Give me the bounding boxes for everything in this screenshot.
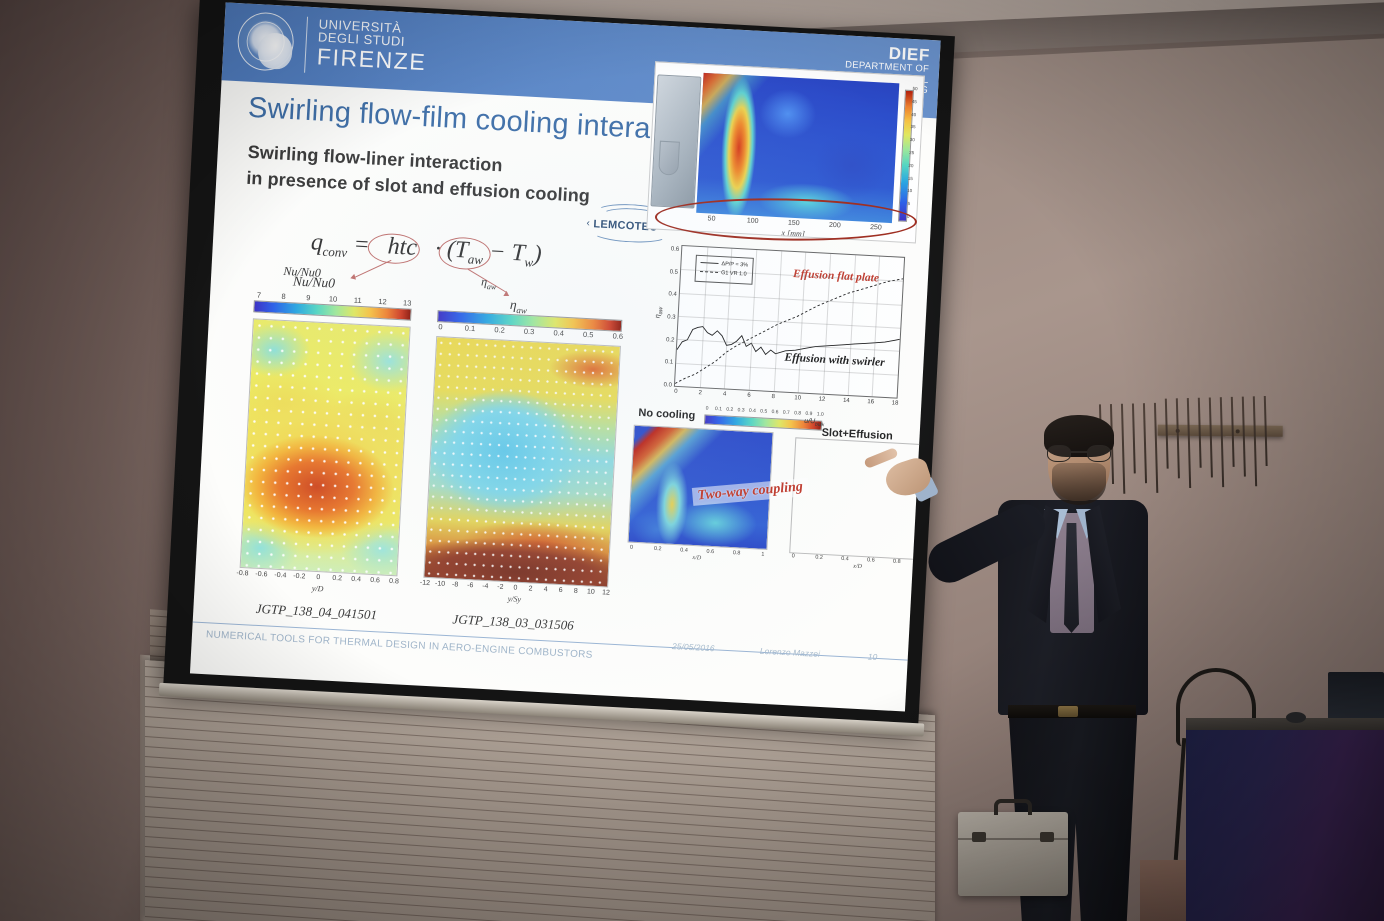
axis-tick: 0.6	[370, 577, 380, 585]
colorbar-tick: 50	[912, 86, 917, 91]
nusselt-ratio-contour	[240, 318, 411, 576]
eta-x-axis-label: y/Sy	[507, 594, 521, 604]
axis-tick: 0.4	[553, 328, 564, 338]
presentation-slide: UNIVERSITÀ DEGLI STUDI FIRENZE DIEF DEPA…	[190, 2, 941, 711]
footer-text: NUMERICAL TOOLS FOR THERMAL DESIGN IN AE…	[206, 629, 593, 661]
axis-tick: 0.1	[715, 406, 722, 412]
axis-tick: 1	[761, 552, 764, 558]
footer-author: Lorenzo Mazzei	[760, 646, 820, 659]
axis-tick: 2	[528, 585, 532, 592]
university-line-3: FIRENZE	[316, 45, 427, 74]
slot-effusion-velocity-panel	[789, 437, 933, 560]
axis-tick: 0.6	[706, 549, 714, 555]
wall-slat	[145, 916, 935, 921]
axis-tick: 12	[378, 297, 387, 306]
colorbar-tick: 30	[910, 137, 915, 142]
colorbar-tick: 10	[907, 188, 912, 193]
eq-paren-close: )	[533, 241, 542, 267]
axis-tick: 10	[329, 294, 338, 303]
u-ubulk-label: u/Ubulk	[804, 418, 825, 428]
effusion-effectiveness-chart: ΔP/P = 3% G1 VR 1.0 Effusion flat plate …	[674, 245, 905, 399]
axis-tick: 0.4	[680, 547, 688, 553]
nu-effusion-hole-pattern	[241, 319, 410, 575]
u-ubulk-colorbar-ticks: 00.10.20.30.40.50.60.70.80.91.0	[705, 405, 823, 411]
axis-tick: 1.0	[817, 411, 824, 417]
adiabatic-effectiveness-contour	[423, 336, 621, 588]
axis-tick: 7	[257, 290, 262, 299]
colorbar-tick: 15	[908, 176, 913, 181]
htc-arrow-line	[353, 260, 392, 279]
axis-tick: 0.1	[665, 360, 674, 366]
axis-tick: 0.6	[671, 246, 680, 252]
axis-tick: 13	[403, 298, 412, 307]
briefcase-handle	[994, 799, 1032, 815]
footer-date: 25/05/2016	[672, 641, 715, 653]
projection-screen: UNIVERSITÀ DEGLI STUDI FIRENZE DIEF DEPA…	[163, 0, 959, 735]
axis-tick: 0.7	[783, 410, 790, 416]
colorbar-tick: 40	[911, 112, 916, 117]
slide-subtitle: Swirling flow-liner interaction in prese…	[246, 140, 592, 209]
axis-tick: -0.2	[293, 573, 305, 581]
axis-tick: -0.8	[236, 570, 248, 578]
axis-tick: 4	[543, 586, 547, 593]
axis-tick: 18	[892, 400, 899, 406]
axis-tick: -0.4	[274, 572, 286, 580]
axis-tick: 0.4	[841, 556, 849, 562]
slot-effusion-field	[790, 438, 932, 559]
axis-tick: 0.6	[867, 557, 875, 563]
axis-tick: 0	[674, 389, 678, 395]
footer-page-number: 10	[868, 651, 878, 661]
axis-tick: 0.5	[583, 330, 594, 340]
axis-tick: 0.9	[805, 411, 812, 417]
draped-table	[1186, 730, 1384, 921]
axis-tick: 0.8	[733, 550, 741, 556]
axis-tick: 6	[747, 393, 751, 399]
axis-tick: 8	[771, 394, 775, 400]
axis-tick: 0.4	[668, 292, 677, 298]
axis-tick: 12	[602, 589, 610, 596]
axis-tick: 0	[791, 553, 794, 559]
axis-tick: 10	[794, 395, 801, 401]
mouse[interactable]	[1286, 712, 1306, 723]
presenter-belt-buckle	[1058, 706, 1078, 717]
nu-x-axis-label: y/D	[312, 584, 324, 594]
convective-heat-flux-equation: qconv = htc · (Taw − Tw)	[310, 229, 542, 271]
axis-tick: 0.5	[669, 269, 678, 275]
wall-slat	[145, 896, 935, 921]
briefcase-latch-right	[1040, 832, 1054, 842]
axis-tick: 14	[843, 398, 850, 404]
axis-tick: 0.2	[726, 407, 733, 413]
conference-room-photo: UNIVERSITÀ DEGLI STUDI FIRENZE DIEF DEPA…	[0, 0, 1384, 921]
eta-plot-caption: JGTP_138_03_031506	[452, 611, 574, 633]
axis-tick: 0.3	[524, 327, 535, 337]
no-cooling-label: No cooling	[638, 407, 695, 422]
wall-art-rod	[1253, 396, 1257, 486]
axis-tick: -10	[435, 580, 445, 588]
axis-tick: -12	[420, 580, 430, 588]
axis-tick: -0.6	[255, 571, 267, 579]
eq-q-sub: conv	[322, 244, 347, 260]
lemcotec-chevron-icon: ‹	[586, 218, 590, 229]
slot-effusion-x-label: x/D	[853, 564, 862, 570]
axis-tick: 0.2	[815, 555, 823, 561]
axis-tick: 0	[438, 322, 443, 331]
axis-tick: 0.4	[749, 408, 756, 414]
wall-art-rod	[1242, 397, 1246, 477]
eq-minus: −	[489, 239, 507, 266]
presenter-glasses	[1047, 445, 1111, 462]
axis-tick: 4	[723, 391, 727, 397]
colorbar-unit: [m/s]	[923, 136, 924, 146]
axis-tick: 0.3	[667, 314, 676, 320]
axis-tick: 0	[513, 585, 517, 592]
axis-tick: 0	[630, 545, 633, 551]
unifi-seal-logo	[236, 11, 295, 72]
university-name: UNIVERSITÀ DEGLI STUDI FIRENZE	[316, 17, 428, 74]
header-divider	[304, 17, 308, 73]
colorbar-tick: 35	[910, 124, 915, 129]
axis-tick: 0.8	[794, 410, 801, 416]
nu-colorbar-title: Nu/Nu0	[283, 264, 321, 281]
axis-tick: 0.2	[332, 575, 342, 583]
colorbar-tick: 5	[908, 201, 911, 206]
seal-emblem	[257, 32, 293, 70]
axis-tick: 0	[706, 405, 709, 411]
axis-tick: 6	[559, 587, 563, 594]
axis-tick: 0.6	[612, 331, 623, 341]
axis-tick: 0.2	[654, 546, 662, 552]
colorbar-tick: 20	[908, 163, 913, 168]
no-cooling-x-label: x/D	[692, 555, 701, 561]
axis-tick: 2	[698, 390, 702, 396]
axis-tick: -6	[467, 582, 474, 589]
axis-tick: 0.8	[389, 578, 399, 586]
axis-tick: 10	[587, 588, 595, 595]
axis-tick: -4	[482, 583, 489, 590]
aluminium-briefcase	[958, 812, 1068, 896]
axis-tick: 0.4	[351, 576, 361, 584]
eta-colorbar-title: ηaw	[481, 274, 497, 291]
axis-tick: 8	[574, 588, 578, 595]
axis-tick: 11	[354, 296, 362, 305]
chart-y-axis-label: ηaw	[654, 307, 664, 319]
axis-tick: 9	[306, 293, 311, 302]
axis-tick: -2	[497, 584, 504, 591]
eta-aw-annotation: ηaw	[509, 297, 527, 316]
briefcase-latch-left	[972, 832, 986, 842]
axis-tick: 0.8	[893, 559, 901, 565]
axis-tick: 0.6	[771, 409, 778, 415]
axis-tick: 0.2	[666, 337, 675, 343]
presenter-beard	[1052, 463, 1106, 505]
axis-tick: 16	[867, 399, 874, 405]
eta-effusion-hole-pattern	[424, 337, 620, 586]
colorbar-tick: 45	[912, 99, 917, 104]
axis-tick: -8	[452, 581, 459, 588]
axis-tick: 0	[316, 574, 320, 581]
laptop[interactable]	[1328, 672, 1384, 724]
cad-detail	[658, 141, 680, 176]
axis-tick: 0.5	[760, 408, 767, 414]
axis-tick: 0.1	[465, 324, 476, 334]
velocity-colorbar	[898, 90, 914, 222]
axis-tick: 0.3	[737, 407, 744, 413]
htc-arrow-head	[349, 274, 356, 281]
nu-plot-caption: JGTP_138_04_041501	[255, 601, 377, 623]
axis-tick: 12	[818, 396, 825, 402]
axis-tick: 0.2	[494, 325, 505, 335]
axis-tick: 8	[281, 292, 286, 301]
axis-tick: 0.0	[663, 382, 672, 388]
colorbar-tick: 25	[909, 150, 914, 155]
